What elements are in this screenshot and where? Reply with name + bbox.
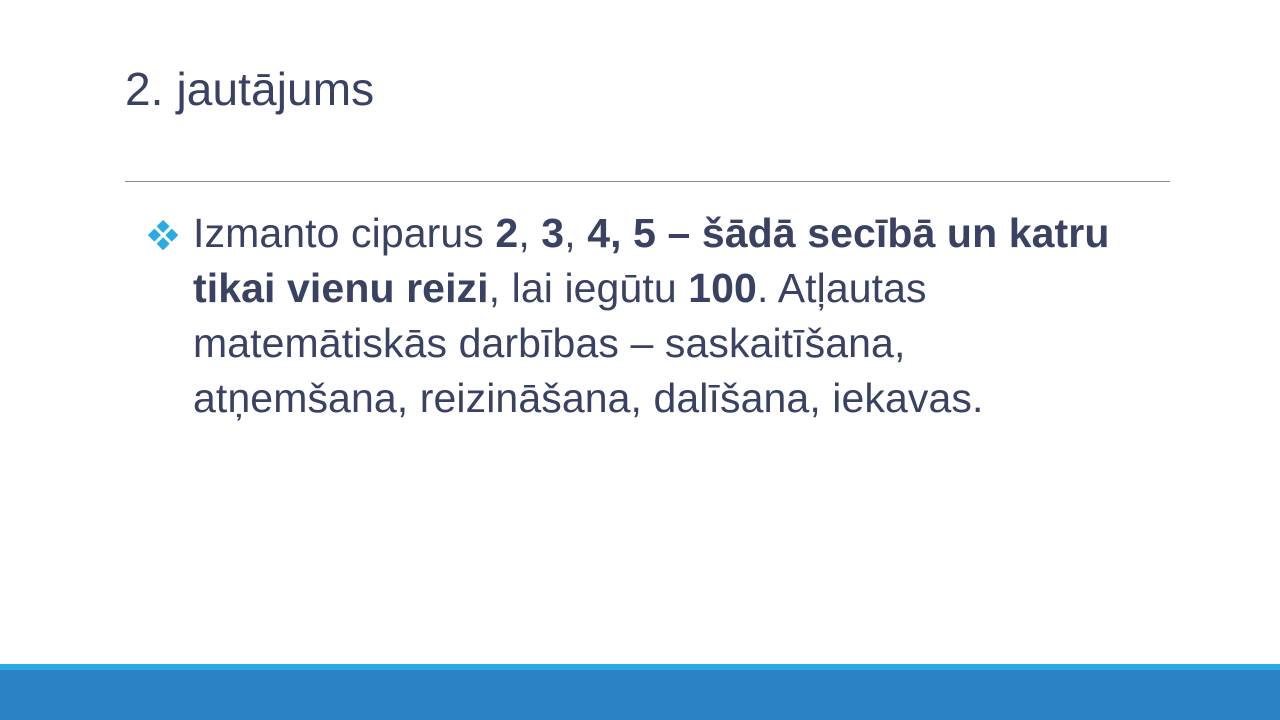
body-content-block: Izmanto ciparus 2, 3, 4, 5 – šādā secībā…	[148, 206, 1148, 426]
slide: 2. jautājums Izmanto ciparus 2, 3, 4, 5 …	[0, 0, 1280, 720]
bullet-text-run: , lai iegūtu	[489, 265, 689, 311]
bullet-text-run: Izmanto ciparus	[193, 210, 495, 256]
bullet-text-run: ,	[564, 210, 587, 256]
title-divider	[125, 181, 1170, 182]
bullet-text-run: 2	[495, 210, 518, 256]
footer-accent-bar-dark	[0, 670, 1280, 720]
bullet-text-run: 3	[541, 210, 564, 256]
four-diamond-bullet-icon	[148, 220, 178, 250]
bullet-text-run: 100	[688, 265, 757, 311]
title-block: 2. jautājums	[125, 62, 1170, 117]
bullet-text-run: ,	[518, 210, 541, 256]
bullet-marker	[148, 206, 193, 250]
page-title: 2. jautājums	[125, 62, 1170, 117]
bullet-paragraph: Izmanto ciparus 2, 3, 4, 5 – šādā secībā…	[193, 206, 1123, 426]
